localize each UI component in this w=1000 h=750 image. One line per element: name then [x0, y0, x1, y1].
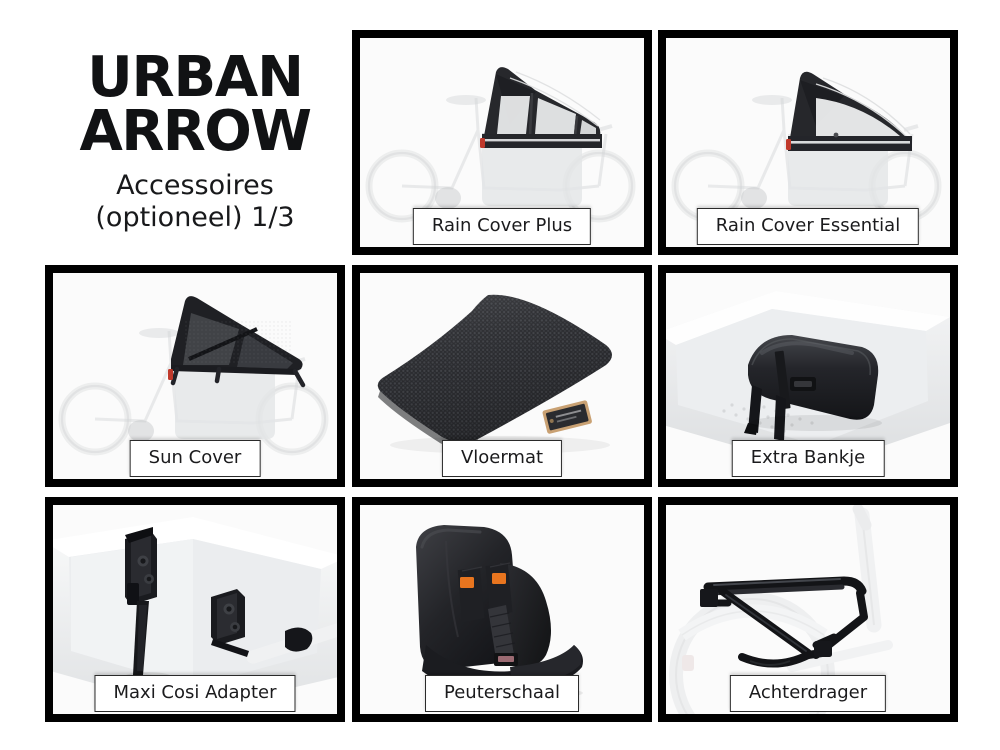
product-label-maxi-cosi-adapter: Maxi Cosi Adapter: [94, 675, 295, 713]
product-image-frame: Sun Cover: [53, 273, 337, 479]
product-label-rain-cover-essential: Rain Cover Essential: [697, 208, 919, 246]
rain-cover-essential: [786, 72, 912, 151]
subtitle-line-2: (optioneel) 1/3: [95, 202, 294, 234]
rain-cover-plus: [480, 67, 602, 148]
product-cell-sun-cover[interactable]: Sun Cover: [45, 265, 345, 487]
product-image-frame: Rain Cover Essential: [666, 38, 950, 247]
product-cell-rain-cover-essential[interactable]: Rain Cover Essential: [658, 30, 958, 255]
product-cell-vloermat[interactable]: Vloermat: [352, 265, 652, 487]
brand-name-line-1: URBAN: [87, 51, 303, 105]
product-hang-tag: [542, 400, 592, 434]
product-image-frame: Peuterschaal: [360, 505, 644, 714]
product-image-frame: Vloermat: [360, 273, 644, 479]
product-cell-achterdrager[interactable]: Achterdrager: [658, 497, 958, 722]
poster-canvas: URBAN ARROW Accessoires (optioneel) 1/3: [0, 0, 1000, 750]
subtitle-line-1: Accessoires: [116, 170, 274, 202]
product-label-sun-cover: Sun Cover: [130, 440, 261, 478]
product-image-frame: Extra Bankje: [666, 273, 950, 479]
harness-logo-left: [460, 577, 474, 588]
product-label-rain-cover-plus: Rain Cover Plus: [413, 208, 591, 246]
product-image-frame: Achterdrager: [666, 505, 950, 714]
product-label-achterdrager: Achterdrager: [730, 675, 886, 713]
product-label-extra-bankje: Extra Bankje: [732, 440, 885, 478]
product-image-frame: Maxi Cosi Adapter: [53, 505, 337, 714]
product-cell-peuterschaal[interactable]: Peuterschaal: [352, 497, 652, 722]
product-cell-rain-cover-plus[interactable]: Rain Cover Plus: [352, 30, 652, 255]
title-block: URBAN ARROW Accessoires (optioneel) 1/3: [45, 30, 345, 255]
product-label-peuterschaal: Peuterschaal: [425, 675, 579, 713]
product-image-frame: Rain Cover Plus: [360, 38, 644, 247]
brand-name-line-2: ARROW: [80, 105, 311, 159]
harness-logo-right: [492, 573, 506, 584]
product-label-vloermat: Vloermat: [442, 440, 562, 478]
product-cell-maxi-cosi-adapter[interactable]: Maxi Cosi Adapter: [45, 497, 345, 722]
product-cell-extra-bankje[interactable]: Extra Bankje: [658, 265, 958, 487]
